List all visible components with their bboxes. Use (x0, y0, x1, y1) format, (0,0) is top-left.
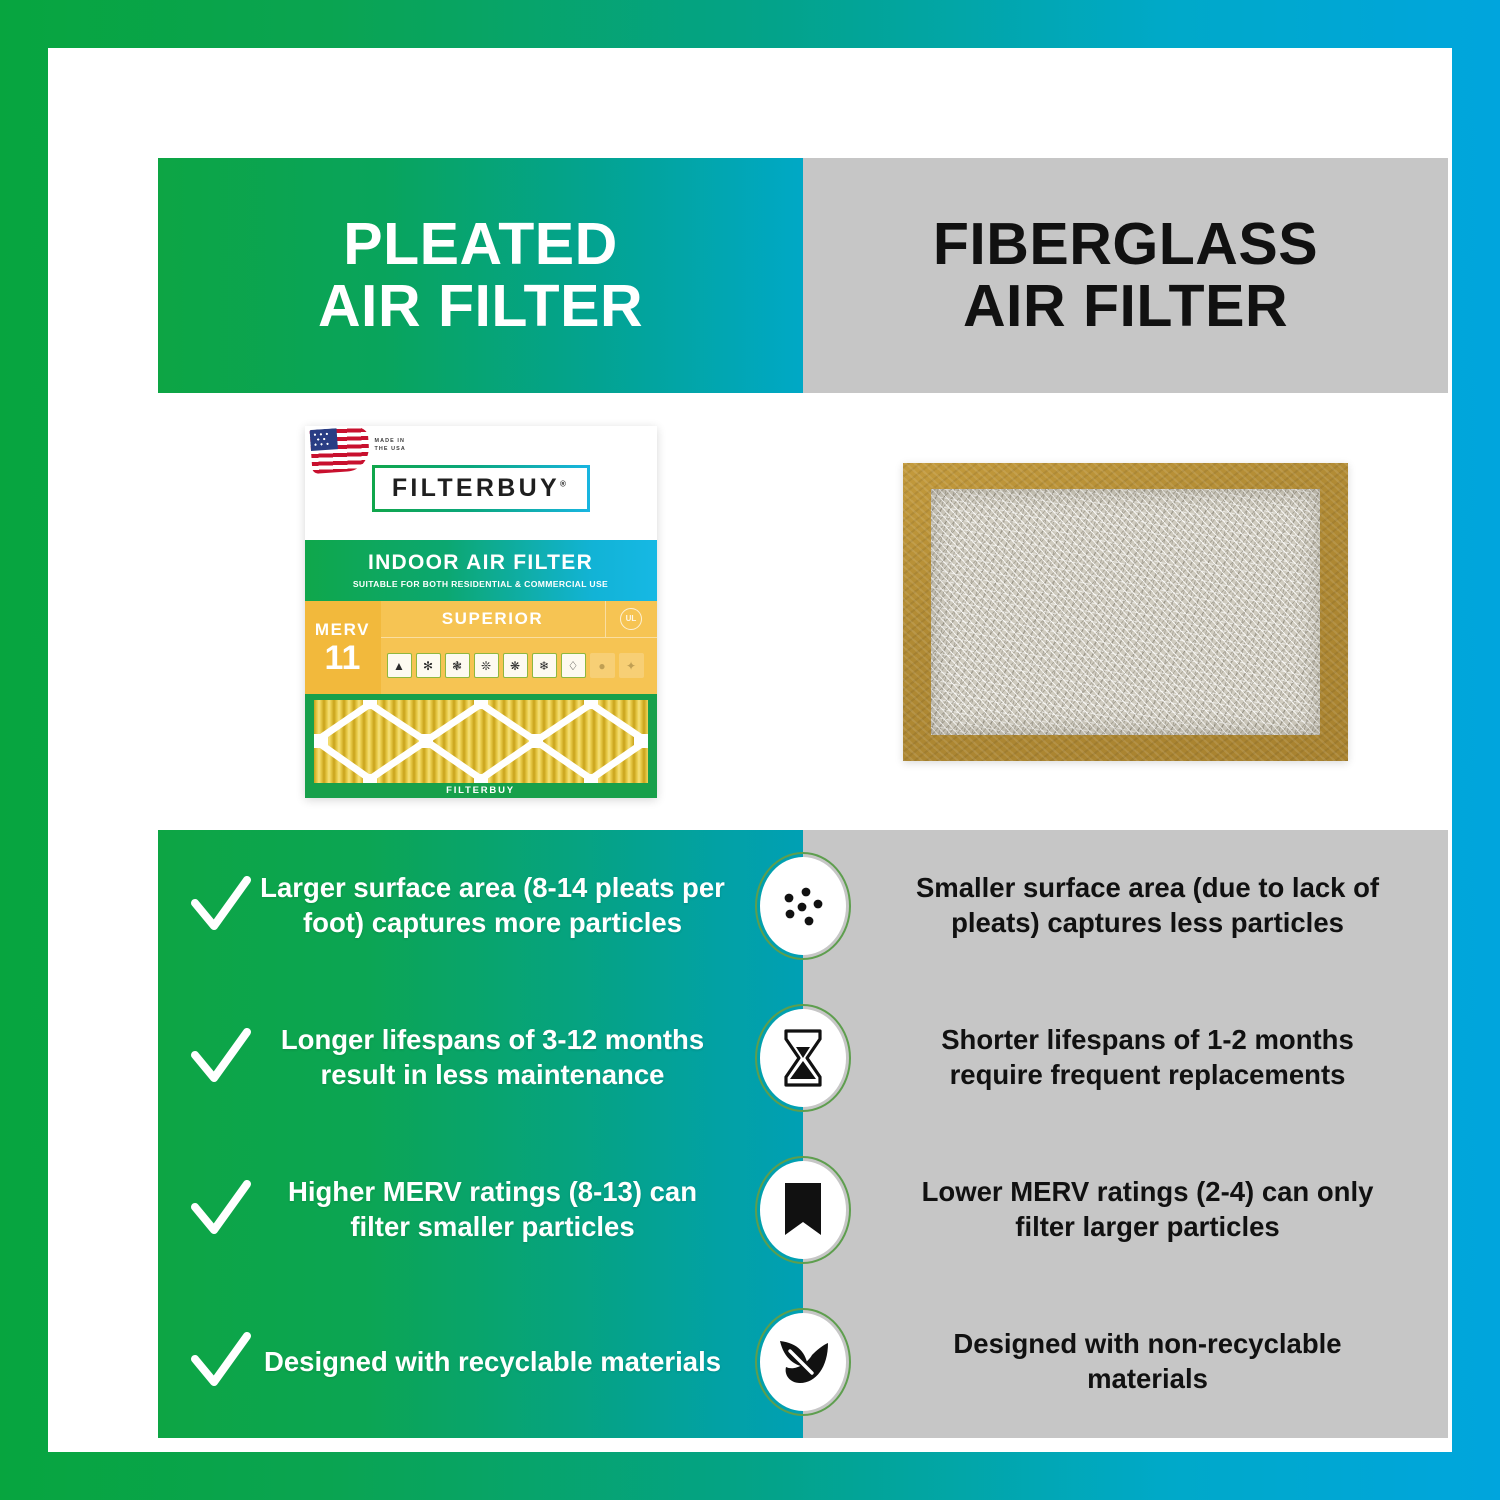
pleat-texture (314, 700, 648, 783)
ul-certification-icon: UL (620, 608, 642, 630)
comparison-left-text: Designed with recyclable materials (256, 1345, 729, 1380)
merv-label: MERV (315, 620, 370, 640)
dust-icon: ▲ (387, 653, 412, 678)
package-banner-title: INDOOR AIR FILTER (368, 551, 593, 575)
badge-disc (760, 1313, 846, 1411)
virus-icon: ✦ (619, 653, 644, 678)
comparison-row: Higher MERV ratings (8-13) can filter sm… (158, 1134, 1448, 1286)
pollen-icon: ❃ (445, 653, 470, 678)
row-badge (755, 1004, 851, 1112)
leaf-icon (772, 1333, 834, 1391)
pleated-filter-product-image: MADE IN THE USA FILTERBUY® INDOOR AIR FI… (305, 426, 657, 798)
comparison-row-right: Lower MERV ratings (2-4) can only filter… (803, 1134, 1448, 1286)
mold-icon: ❊ (474, 653, 499, 678)
product-image-band: MADE IN THE USA FILTERBUY® INDOOR AIR FI… (158, 393, 1448, 830)
comparison-row: Longer lifespans of 3-12 months result i… (158, 982, 1448, 1134)
checkmark-icon (190, 876, 252, 936)
header-fiberglass: FIBERGLASS AIR FILTER (803, 158, 1448, 393)
package-banner: INDOOR AIR FILTER SUITABLE FOR BOTH RESI… (305, 540, 657, 601)
grade-row: SUPERIOR UL (381, 601, 657, 638)
odor-icon: ● (590, 653, 615, 678)
hourglass-icon (774, 1027, 832, 1089)
grade-label: SUPERIOR (381, 609, 605, 629)
comparison-left-text: Higher MERV ratings (8-13) can filter sm… (256, 1175, 729, 1244)
insect-icon: ✻ (416, 653, 441, 678)
header-pleated: PLEATED AIR FILTER (158, 158, 803, 393)
comparison-row: Larger surface area (8-14 pleats per foo… (158, 830, 1448, 982)
merv-value: 11 (325, 641, 361, 675)
badge-disc (760, 857, 846, 955)
comparison-row-right: Shorter lifespans of 1-2 months require … (803, 982, 1448, 1134)
header-fiberglass-title: FIBERGLASS AIR FILTER (933, 214, 1318, 337)
bookmark-icon (779, 1180, 827, 1240)
comparison-row-left: Longer lifespans of 3-12 months result i… (158, 982, 803, 1134)
package-footer-brand: FILTERBUY (305, 785, 657, 796)
comparison-right-text: Lower MERV ratings (2-4) can only filter… (895, 1175, 1400, 1244)
product-cell-pleated: MADE IN THE USA FILTERBUY® INDOOR AIR FI… (158, 393, 803, 830)
pet-dander-icon: ❄ (532, 653, 557, 678)
row-badge (755, 1308, 851, 1416)
checkmark-icon (190, 1028, 252, 1088)
infographic-canvas: PLEATED AIR FILTER FIBERGLASS AIR FILTER… (158, 158, 1448, 1438)
particles-icon (773, 876, 833, 936)
row-badge (755, 852, 851, 960)
comparison-row-right: Designed with non-recyclable materials (803, 1286, 1448, 1438)
usa-flag-icon (309, 426, 370, 474)
comparison-right-text: Smaller surface area (due to lack of ple… (895, 871, 1400, 940)
comparison-right-text: Designed with non-recyclable materials (895, 1327, 1400, 1396)
filterbuy-logo: FILTERBUY® (372, 465, 590, 512)
comparison-row: Designed with recyclable materials Desig… (158, 1286, 1448, 1438)
package-grade-section: SUPERIOR UL ▲ ✻ ❃ ❊ (381, 601, 657, 694)
filterbuy-logo-text: FILTERBUY® (392, 474, 569, 503)
certification-badge: UL (605, 601, 657, 637)
header-row: PLEATED AIR FILTER FIBERGLASS AIR FILTER (158, 158, 1448, 393)
comparison-right-text: Shorter lifespans of 1-2 months require … (895, 1023, 1400, 1092)
smoke-icon: ♢ (561, 653, 586, 678)
comparison-row-left: Designed with recyclable materials (158, 1286, 803, 1438)
fiberglass-filter-product-image (903, 463, 1348, 761)
outer-gradient-frame: PLEATED AIR FILTER FIBERGLASS AIR FILTER… (0, 0, 1500, 1500)
bacteria-icon: ❋ (503, 653, 528, 678)
made-in-usa-label: MADE IN THE USA (375, 437, 406, 453)
package-banner-subtitle: SUITABLE FOR BOTH RESIDENTIAL & COMMERCI… (353, 579, 608, 589)
package-top-section: MADE IN THE USA FILTERBUY® (305, 426, 657, 540)
comparison-left-text: Longer lifespans of 3-12 months result i… (256, 1023, 729, 1092)
comparison-left-text: Larger surface area (8-14 pleats per foo… (256, 871, 729, 940)
support-grid-icon (314, 700, 648, 783)
fiberglass-mesh-texture (931, 489, 1320, 735)
badge-disc (760, 1009, 846, 1107)
comparison-row-right: Smaller surface area (due to lack of ple… (803, 830, 1448, 982)
product-cell-fiberglass (803, 393, 1448, 830)
comparison-row-left: Larger surface area (8-14 pleats per foo… (158, 830, 803, 982)
merv-badge: MERV 11 (305, 601, 381, 694)
white-inner-frame: PLEATED AIR FILTER FIBERGLASS AIR FILTER… (48, 48, 1452, 1452)
pleated-media-window: FILTERBUY (305, 694, 657, 798)
package-merv-section: MERV 11 SUPERIOR UL (305, 601, 657, 694)
checkmark-icon (190, 1180, 252, 1240)
header-pleated-title: PLEATED AIR FILTER (318, 214, 643, 337)
row-badge (755, 1156, 851, 1264)
capture-icons-strip: ▲ ✻ ❃ ❊ ❋ ❄ ♢ ● ✦ (381, 638, 657, 694)
badge-disc (760, 1161, 846, 1259)
comparison-row-left: Higher MERV ratings (8-13) can filter sm… (158, 1134, 803, 1286)
checkmark-icon (190, 1332, 252, 1392)
comparison-panel: Larger surface area (8-14 pleats per foo… (158, 830, 1448, 1438)
